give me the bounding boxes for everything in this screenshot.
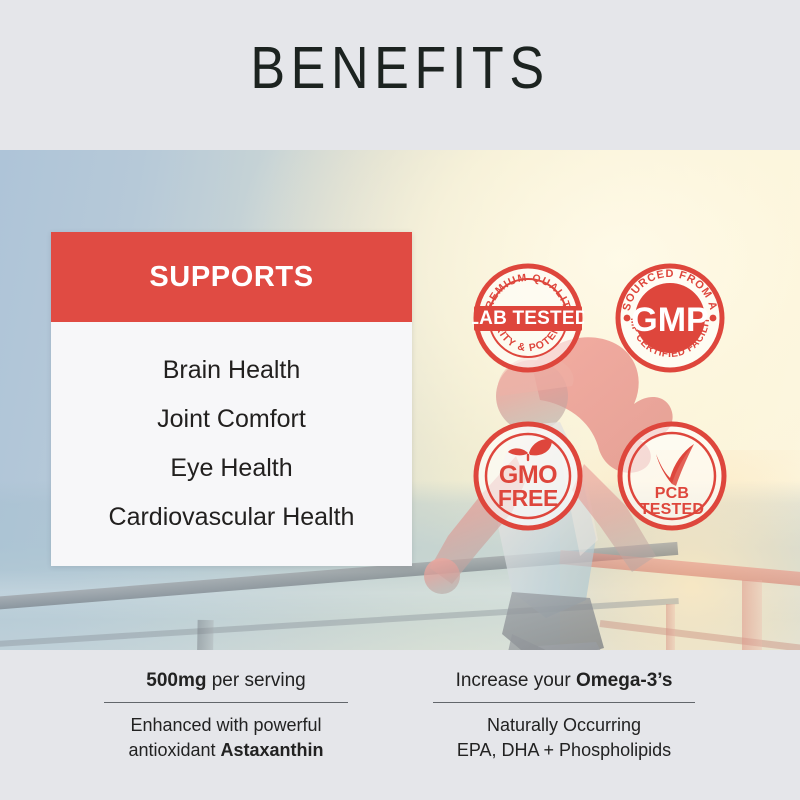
supports-card: SUPPORTS Brain Health Joint Comfort Eye …	[51, 232, 412, 566]
badge-lab-band-text: LAB TESTED	[472, 308, 584, 329]
list-item: Cardiovascular Health	[61, 493, 402, 542]
badge-gmp: SOURCED FROM A GMP CERTIFIED FACILITY GM…	[614, 262, 726, 374]
supports-heading: SUPPORTS	[149, 261, 313, 294]
badge-pcb-line2: TESTED	[640, 501, 704, 518]
hero-photo: SUPPORTS Brain Health Joint Comfort Eye …	[0, 150, 800, 650]
infographic-canvas: BENEFITS	[0, 0, 800, 800]
footer-left-headline-rest: per serving	[206, 670, 305, 691]
footer-right-sub-line1: Naturally Occurring	[394, 713, 734, 738]
footer-left-sub-line2: antioxidant Astaxanthin	[56, 738, 396, 763]
badge-gmo-free: GMO FREE	[472, 420, 584, 532]
footer-left-subtext: Enhanced with powerful antioxidant Astax…	[56, 713, 396, 763]
footer-left-sub-line2-prefix: antioxidant	[128, 740, 220, 760]
header-band: BENEFITS	[0, 0, 800, 150]
footer-right-sub-line2: EPA, DHA + Phospholipids	[394, 738, 734, 763]
footer-right-headline: Increase your Omega-3’s	[394, 666, 734, 696]
trust-badges: PREMIUM QUALITY PURITY & POTENCY LAB TES…	[468, 262, 740, 534]
footer-column-right: Increase your Omega-3’s Naturally Occurr…	[394, 666, 734, 763]
badge-gmp-center-text: GMP	[631, 301, 708, 339]
footer-right-divider	[433, 702, 695, 703]
pier-post-left	[194, 620, 213, 650]
badge-pcb-line1: PCB	[655, 485, 689, 502]
footer-left-headline: 500mg per serving	[56, 666, 396, 696]
page-title: BENEFITS	[28, 36, 772, 100]
supports-list: Brain Health Joint Comfort Eye Health Ca…	[51, 322, 412, 542]
badge-lab-tested: PREMIUM QUALITY PURITY & POTENCY LAB TES…	[472, 262, 584, 374]
footer-right-subtext: Naturally Occurring EPA, DHA + Phospholi…	[394, 713, 734, 763]
badge-pcb-tested: PCB TESTED	[616, 420, 728, 532]
footer-right-headline-rest: Increase your	[456, 670, 576, 691]
footer-band: 500mg per serving Enhanced with powerful…	[0, 650, 800, 800]
footer-left-sub-line2-strong: Astaxanthin	[221, 740, 324, 760]
footer-left-sub-line1: Enhanced with powerful	[56, 713, 396, 738]
footer-column-left: 500mg per serving Enhanced with powerful…	[56, 666, 396, 763]
supports-card-header: SUPPORTS	[51, 232, 412, 322]
list-item: Brain Health	[61, 346, 402, 395]
list-item: Eye Health	[61, 444, 402, 493]
list-item: Joint Comfort	[61, 395, 402, 444]
badge-gmo-line2: FREE	[498, 485, 558, 511]
footer-right-headline-strong: Omega-3’s	[576, 670, 672, 691]
footer-left-divider	[104, 702, 348, 703]
footer-left-headline-strong: 500mg	[146, 670, 206, 691]
